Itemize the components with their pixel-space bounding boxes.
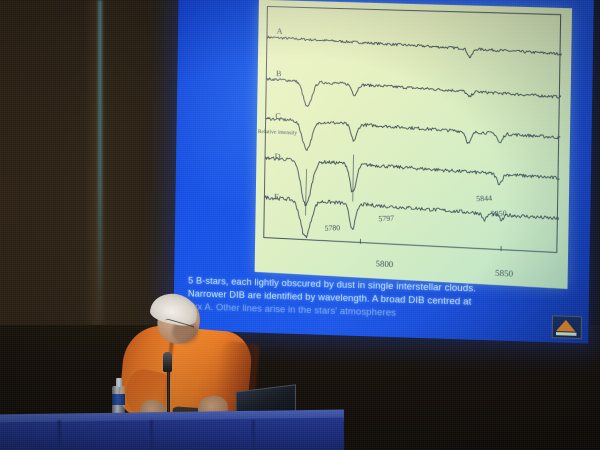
spectrum-trace-c [266,117,561,161]
x-tick-5850: 5850 [495,267,513,278]
cloth-fold [150,420,153,450]
spectrum-trace-a [267,36,562,61]
annotation-5844: 5844 [476,193,493,203]
figure-plot-frame [263,6,561,253]
spectrum-trace-e [264,196,559,251]
spectrum-trace-b [266,78,561,116]
spectra-plot [264,7,562,254]
microphone-stand [167,366,170,418]
cloth-fold [252,420,255,450]
presenter-table-cloth [0,418,344,450]
cloth-fold [58,420,61,450]
projected-slide: Relative intensity A B C D E 5780 5797 5… [173,0,593,343]
lecture-hall-photo: Relative intensity A B C D E 5780 5797 5… [0,0,600,450]
conference-logo-icon [552,315,583,339]
trace-label-e: E [274,192,279,201]
spectrum-trace-d [265,157,560,218]
trace-label-a: A [277,26,283,35]
logo-triangle-icon [556,320,576,332]
y-axis-label: Relative intensity [258,129,297,137]
logo-bar-icon [556,332,576,336]
microphone-icon [163,352,172,372]
trace-label-b: B [276,69,282,78]
spectra-figure: Relative intensity A B C D E 5780 5797 5… [255,0,572,289]
x-tick-5800: 5800 [376,258,394,269]
wall-light-strip [98,0,102,330]
trace-label-c: C [275,111,281,120]
bottle-cap [116,378,122,387]
annotation-5780: 5780 [324,223,340,233]
projection-screen: Relative intensity A B C D E 5780 5797 5… [173,0,593,343]
annotation-5850: 5850 [490,208,507,218]
annotation-5797: 5797 [378,213,394,223]
water-bottle [112,378,125,414]
annotation-leader-line [353,155,354,202]
bottle-label [112,394,125,405]
annotation-leader-line [306,169,307,216]
trace-label-d: D [275,152,281,161]
